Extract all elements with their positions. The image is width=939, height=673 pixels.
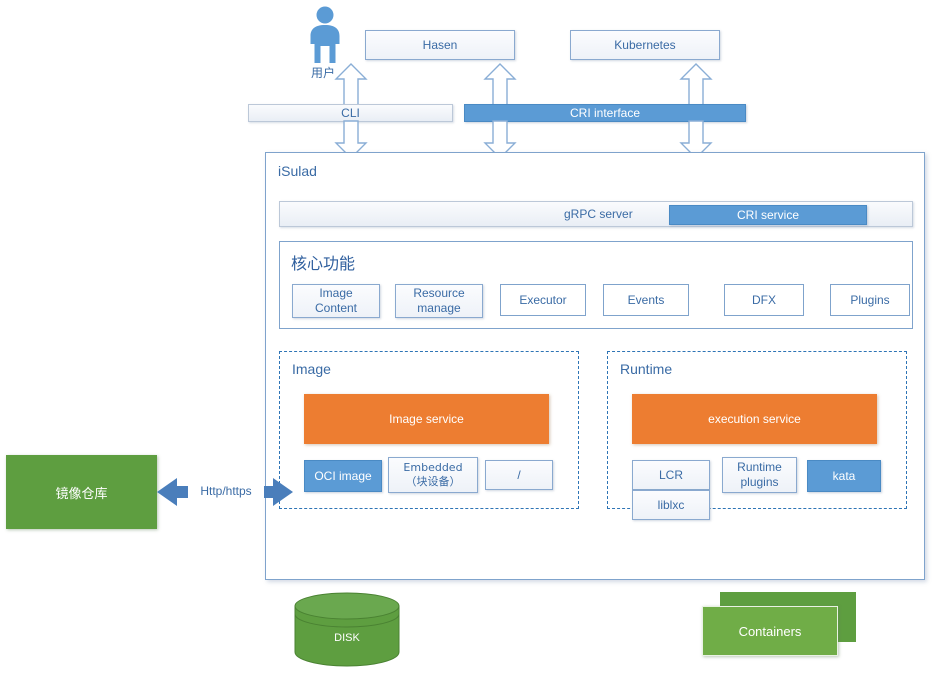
core-module-label: DFX [752,293,776,308]
grpc-server-bar[interactable]: gRPC server CRI service [279,201,913,227]
grpc-server-label: gRPC server [564,207,633,221]
runtime-panel: Runtime execution service LCR liblxc Run… [607,351,907,509]
execution-service-box[interactable]: execution service [632,394,877,444]
isulad-title: iSulad [278,163,317,179]
disk-label: DISK [292,632,402,644]
core-module-label: Resource manage [413,286,464,316]
person-icon [305,6,345,64]
image-service-label: Image service [389,412,464,426]
execution-service-label: execution service [708,412,801,426]
client-box-hasen[interactable]: Hasen [365,30,515,60]
core-module-label: Events [628,293,665,308]
client-box-kubernetes[interactable]: Kubernetes [570,30,720,60]
arrow-up-kubernetes-to-cri [678,62,714,106]
client-label: Kubernetes [614,38,675,53]
diagram-canvas: 用户 Hasen Kubernetes CLI CRI interface [0,0,939,673]
image-registry-box[interactable]: 镜像仓库 [6,455,157,529]
cli-label: CLI [341,106,360,120]
runtime-engine-lcr[interactable]: LCR [632,460,710,490]
image-backend-label: Embedded （块设备） [403,461,462,489]
core-module-resource-manage[interactable]: Resource manage [395,284,483,318]
isulad-panel: iSulad gRPC server CRI service 核心功能 Imag… [265,152,925,580]
core-module-label: Executor [519,293,566,308]
containers-group: Containers [700,592,860,662]
containers-label: Containers [739,624,802,639]
core-module-plugins[interactable]: Plugins [830,284,910,316]
image-backend-root[interactable]: / [485,460,553,490]
arrow-up-hasen-to-cri [482,62,518,106]
image-backend-oci[interactable]: OCI image [304,460,382,492]
arrow-up-user-to-cli [333,62,369,106]
cri-service-label: CRI service [737,208,799,222]
runtime-engine-kata[interactable]: kata [807,460,881,492]
image-backend-embedded[interactable]: Embedded （块设备） [388,457,478,493]
runtime-engine-label: liblxc [658,498,685,513]
client-label: Hasen [423,38,458,53]
http-https-label: Http/https [188,484,264,498]
core-functions-panel: 核心功能 Image Content Resource manage Execu… [279,241,913,329]
core-module-label: Plugins [850,293,889,308]
image-panel: Image Image service OCI image Embedded （… [279,351,579,509]
runtime-engine-plugins[interactable]: Runtime plugins [722,457,797,493]
core-module-events[interactable]: Events [603,284,689,316]
cri-interface-label: CRI interface [570,106,640,120]
image-backend-label: / [517,468,520,483]
cri-service-box[interactable]: CRI service [669,205,867,225]
image-backend-label: OCI image [314,469,371,483]
core-module-dfx[interactable]: DFX [724,284,804,316]
runtime-engine-label: Runtime plugins [737,460,782,490]
disk-cylinder: DISK [292,592,402,668]
image-panel-title: Image [292,361,331,377]
image-registry-label: 镜像仓库 [55,483,107,502]
image-service-box[interactable]: Image service [304,394,549,444]
runtime-panel-title: Runtime [620,361,672,377]
containers-front-box[interactable]: Containers [702,606,838,656]
runtime-engine-liblxc[interactable]: liblxc [632,490,710,520]
core-module-image-content[interactable]: Image Content [292,284,380,318]
runtime-engine-label: kata [833,469,856,483]
runtime-engine-label: LCR [659,468,683,483]
core-module-label: Image Content [315,286,357,316]
core-module-executor[interactable]: Executor [500,284,586,316]
core-functions-title: 核心功能 [291,250,355,274]
